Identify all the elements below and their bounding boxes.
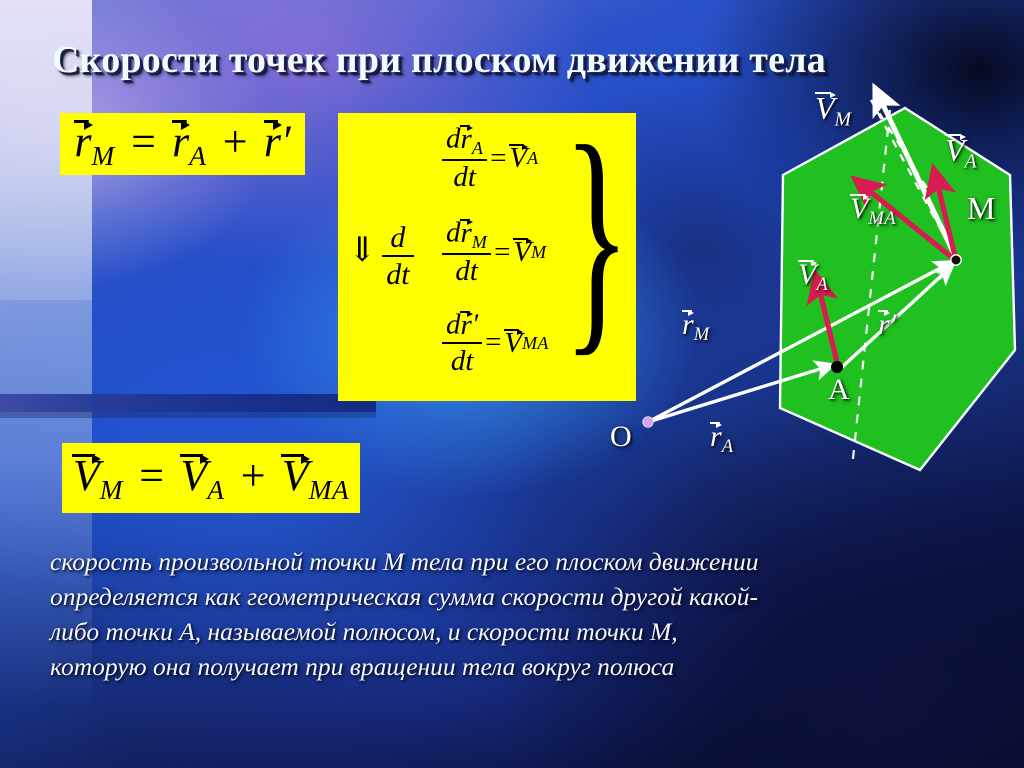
label-point-o: O	[610, 422, 632, 452]
numerator-d-r-a: drA	[442, 123, 487, 158]
subscript-a: A	[472, 138, 483, 158]
symbol-r: r	[461, 123, 472, 155]
label-r-prime: r′	[878, 308, 896, 340]
paragraph-line-2: определяется как геометрическая сумма ск…	[50, 580, 950, 615]
operator-denominator: dt	[382, 258, 414, 290]
equals-sign: =	[487, 144, 509, 173]
symbol-v: V	[504, 327, 522, 359]
equals-sign: =	[482, 328, 504, 357]
denominator-dt: dt	[451, 256, 482, 287]
vector-r: r	[461, 309, 472, 340]
paragraph-line-4: которую она получает при вращении тела в…	[50, 650, 950, 685]
vector-r: r	[461, 123, 472, 154]
formula-velocity-sum: VM = VA + VMA	[73, 451, 349, 504]
label-point-a: A	[828, 375, 850, 405]
symbol-v: V	[180, 451, 207, 500]
equals-sign: =	[491, 238, 513, 267]
vector-r-m: r	[74, 117, 91, 164]
subscript-a: A	[527, 149, 538, 167]
label-point-m: M	[967, 192, 995, 224]
vector-v: V	[509, 143, 527, 174]
equation-velocity-ma: dr′ dt = VMA	[442, 309, 549, 376]
vector-v-ma: V	[282, 451, 309, 498]
equals-sign: =	[126, 117, 161, 166]
subscript-m: M	[531, 243, 546, 261]
paragraph-line-1: скорость произвольной точки М тела при е…	[50, 545, 950, 580]
decorative-divider-shadow	[0, 412, 376, 418]
subscript-a: A	[207, 475, 224, 505]
paragraph-line-3: либо точки А, называемой полюсом, и скор…	[50, 615, 950, 650]
double-down-arrow-icon: ⇓	[348, 234, 377, 268]
subscript-m: M	[100, 475, 123, 505]
symbol-r: r	[878, 308, 890, 340]
symbol-v: V	[815, 90, 835, 124]
vector-r: r	[461, 217, 472, 248]
vector-v-m: V	[73, 451, 100, 498]
symbol-r: r	[682, 308, 694, 340]
symbol-v: V	[73, 451, 100, 500]
equation-velocity-a: drA dt = VA	[442, 123, 538, 193]
symbol-v: V	[798, 258, 816, 290]
subscript-a: A	[816, 274, 828, 295]
subscript-ma: MA	[522, 334, 549, 352]
numerator-d-r-prime: dr′	[442, 309, 482, 341]
symbol-v: V	[850, 192, 868, 224]
prime-mark: ′	[890, 308, 897, 341]
subscript-a: A	[722, 436, 734, 457]
subscript-a: A	[189, 141, 206, 171]
vector-r-prime: r	[264, 117, 281, 164]
symbol-r: r	[710, 420, 722, 452]
symbol-r: r	[461, 217, 472, 249]
subscript-m: M	[472, 232, 487, 252]
subscript-m: M	[835, 109, 852, 131]
subscript-ma: MA	[868, 208, 896, 229]
operator-numerator: d	[386, 223, 409, 254]
symbol-r: r	[74, 117, 91, 166]
formula-box-position-vectors: rM = rA + r′	[60, 113, 305, 175]
d-symbol: d	[446, 123, 461, 155]
numerator-d-r-m: drM	[442, 217, 491, 252]
equals-sign: =	[134, 451, 169, 500]
vector-r-a: r	[172, 117, 189, 164]
plus-sign: +	[217, 117, 252, 166]
label-v-m: VM	[815, 90, 851, 130]
d-symbol: d	[446, 217, 461, 249]
symbol-v: V	[513, 236, 531, 268]
subscript-m: M	[694, 324, 710, 345]
symbol-v: V	[945, 132, 965, 166]
formula-box-velocities: VM = VA + VMA	[62, 443, 360, 513]
formula-position-vectors: rM = rA + r′	[74, 117, 290, 170]
slide-canvas: Скорости точек при плоском движении тела…	[0, 0, 1024, 768]
symbol-r: r	[461, 309, 472, 341]
denominator-dt: dt	[447, 345, 478, 376]
label-r-a: rA	[710, 420, 733, 457]
subscript-a: A	[965, 151, 978, 173]
point-m-marker	[951, 255, 961, 265]
equation-velocity-m: drM dt = VM	[442, 217, 546, 287]
subscript-ma: MA	[309, 475, 349, 505]
point-o-marker	[643, 417, 653, 427]
d-symbol: d	[446, 309, 461, 341]
vector-v-a: V	[180, 451, 207, 498]
fraction-bar	[442, 342, 482, 344]
label-r-m: rM	[682, 308, 710, 345]
decorative-divider-bar	[0, 394, 376, 412]
symbol-v: V	[282, 451, 309, 500]
symbol-v: V	[509, 142, 527, 174]
vector-v: V	[504, 327, 522, 358]
label-v-ma: VMA	[850, 192, 896, 229]
label-v-a-top: VA	[945, 132, 977, 172]
vector-v: V	[513, 237, 531, 268]
vector-diagram: VM VA VMA VA rM rA r′ O A M	[590, 70, 1024, 500]
operator-d-dt: d dt	[382, 223, 414, 291]
symbol-r: r	[172, 117, 189, 166]
subscript-m: M	[92, 141, 115, 171]
label-v-a-body: VA	[798, 258, 828, 295]
denominator-dt: dt	[449, 162, 480, 193]
symbol-r: r	[264, 117, 281, 166]
prime-mark: ′	[472, 309, 478, 341]
explanation-paragraph: скорость произвольной точки М тела при е…	[50, 545, 950, 685]
point-a-marker	[831, 361, 843, 373]
plus-sign: +	[235, 451, 270, 500]
prime-mark: ′	[281, 117, 291, 166]
